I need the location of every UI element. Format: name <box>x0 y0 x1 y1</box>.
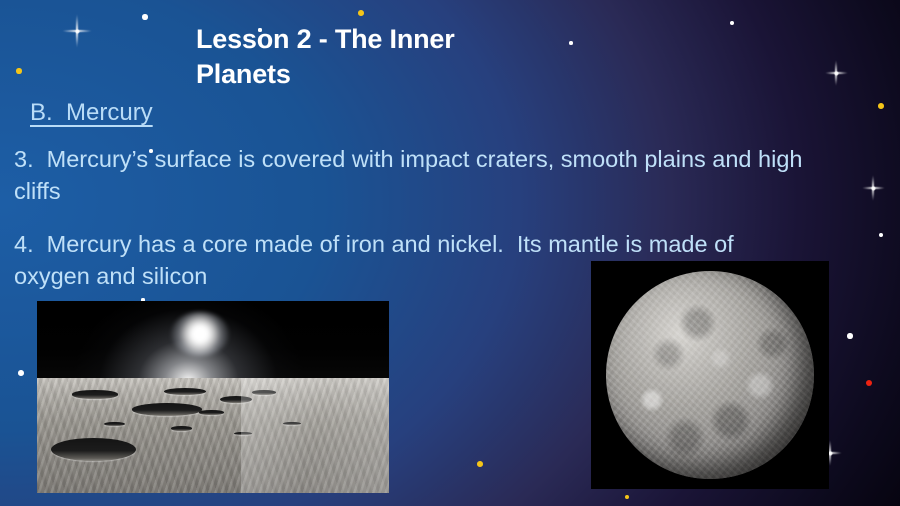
star-dot <box>569 41 573 45</box>
body-point-3: 3. Mercury’s surface is covered with imp… <box>14 143 804 208</box>
star-dot <box>625 495 630 500</box>
star-dot <box>866 380 872 386</box>
crater <box>72 390 118 398</box>
crater <box>283 422 301 425</box>
crater <box>234 432 252 435</box>
star-dot <box>879 233 883 237</box>
sparkle-core <box>75 29 80 34</box>
crater <box>171 426 192 431</box>
sun-glow <box>171 312 229 356</box>
mercury-surface-panorama-photo <box>37 301 389 493</box>
star-dot <box>18 370 24 376</box>
panorama-sky <box>37 301 389 380</box>
slide-title: Lesson 2 - The Inner Planets <box>196 22 546 91</box>
sparkle-core <box>834 71 839 76</box>
star-dot <box>16 68 21 73</box>
crater <box>132 403 202 416</box>
star-dot <box>730 21 735 26</box>
presentation-slide: Lesson 2 - The Inner Planets B. Mercury … <box>0 0 900 506</box>
star-dot <box>142 14 147 19</box>
crater <box>164 388 206 395</box>
panorama-terrain <box>37 378 389 493</box>
crater <box>104 422 125 427</box>
sparkle-core <box>871 186 876 191</box>
crater <box>199 410 224 415</box>
crater <box>252 390 277 395</box>
subheading-mercury: B. Mercury <box>30 100 153 126</box>
star-dot <box>477 461 483 467</box>
crater <box>51 438 135 461</box>
mercury-globe-photo <box>591 261 829 489</box>
star-dot <box>847 333 852 338</box>
crater <box>220 396 252 403</box>
star-dot <box>878 103 884 109</box>
mercury-planet-disc <box>606 271 814 479</box>
star-dot <box>358 10 364 16</box>
